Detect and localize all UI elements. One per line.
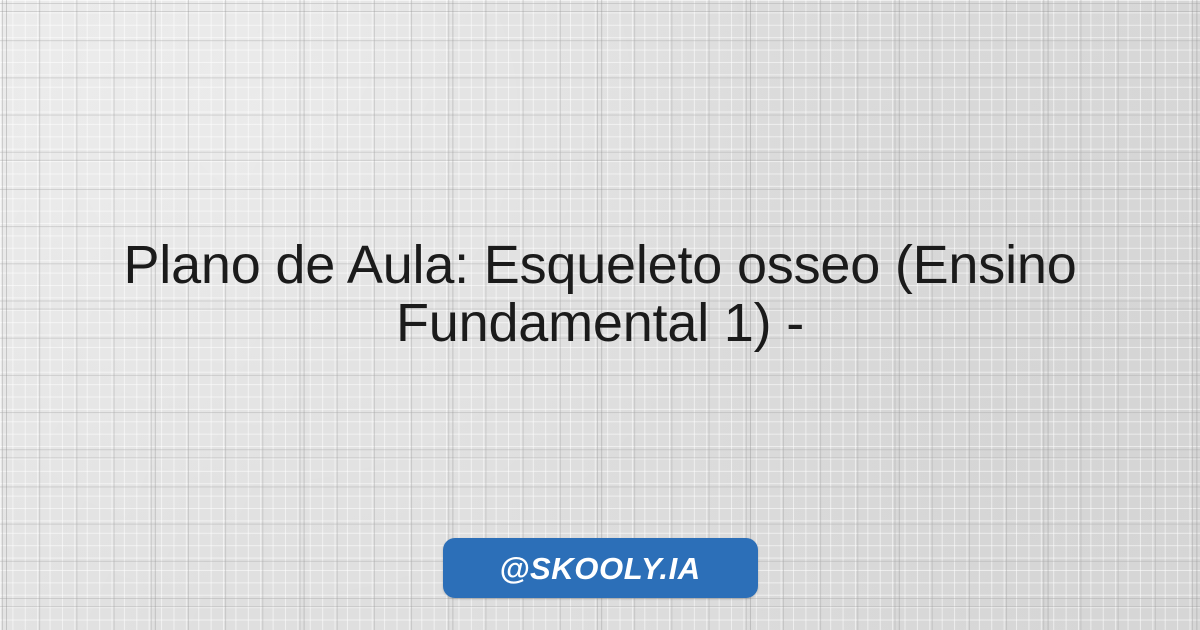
page-title: Plano de Aula: Esqueleto osseo (Ensino F… (50, 236, 1150, 352)
brand-badge: @SKOOLY.IA (443, 538, 758, 598)
og-card-canvas: Plano de Aula: Esqueleto osseo (Ensino F… (0, 0, 1200, 630)
brand-badge-container: @SKOOLY.IA (0, 538, 1200, 598)
